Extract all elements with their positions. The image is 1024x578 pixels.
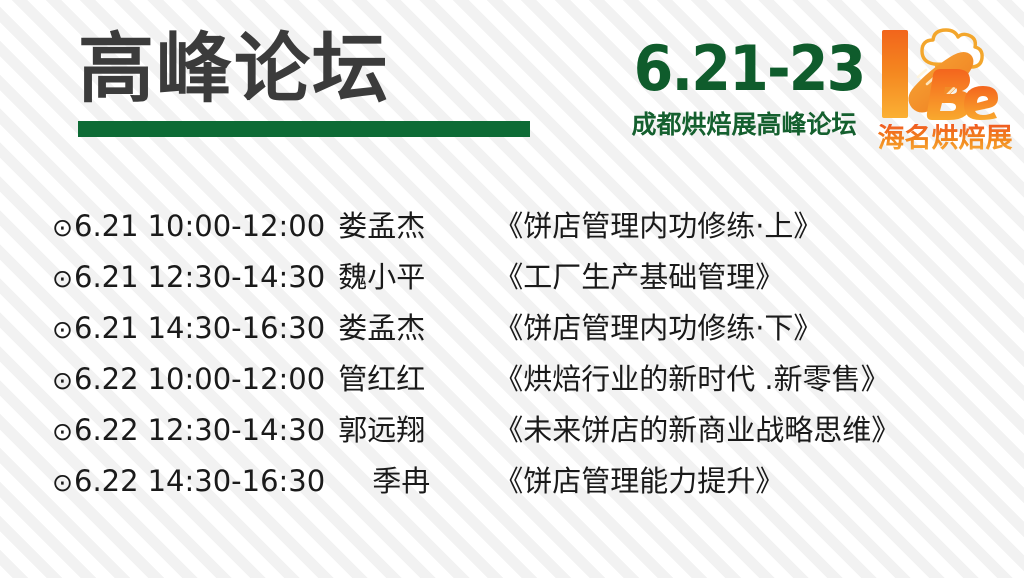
session-time: 10:00-12:00 <box>148 209 339 243</box>
session-schedule-list: ⊙ 6.21 10:00-12:00 娄孟杰 《饼店管理内功修练·上》 ⊙ 6.… <box>0 203 1024 509</box>
session-date: 6.22 <box>74 413 148 447</box>
session-date: 6.22 <box>74 362 148 396</box>
session-date: 6.22 <box>74 464 148 498</box>
session-time: 14:30-16:30 <box>148 464 339 498</box>
event-dates: 6.21-23 <box>634 36 855 102</box>
bullet-icon: ⊙ <box>52 366 74 395</box>
logo-mark-icon <box>872 24 1018 134</box>
session-row: ⊙ 6.21 10:00-12:00 娄孟杰 《饼店管理内功修练·上》 <box>0 203 1024 254</box>
session-speaker: 季冉 <box>338 458 464 500</box>
session-row: ⊙ 6.22 14:30-16:30 季冉 《饼店管理能力提升》 <box>0 458 1024 509</box>
session-time: 10:00-12:00 <box>148 362 339 396</box>
session-time: 14:30-16:30 <box>148 311 339 345</box>
page-title: 高峰论坛 <box>78 26 530 112</box>
forum-poster: 高峰论坛 6.21-23 成都烘焙展高峰论坛 <box>0 0 1024 578</box>
session-topic: 《烘焙行业的新时代 .新零售》 <box>464 356 889 398</box>
session-speaker: 娄孟杰 <box>338 203 464 245</box>
event-subtitle: 成都烘焙展高峰论坛 <box>624 110 864 139</box>
event-date-block: 6.21-23 成都烘焙展高峰论坛 <box>624 36 864 139</box>
session-topic: 《饼店管理能力提升》 <box>464 458 784 500</box>
session-speaker: 管红红 <box>338 356 464 398</box>
session-speaker: 郭远翔 <box>338 407 464 449</box>
session-date: 6.21 <box>74 209 148 243</box>
session-time: 12:30-14:30 <box>148 260 339 294</box>
bullet-icon: ⊙ <box>52 417 74 446</box>
be-monogram-icon <box>927 69 998 120</box>
bullet-icon: ⊙ <box>52 468 74 497</box>
orange-bar-icon <box>882 30 908 118</box>
bullet-icon: ⊙ <box>52 213 74 242</box>
session-topic: 《饼店管理内功修练·上》 <box>464 203 822 245</box>
session-row: ⊙ 6.22 12:30-14:30 郭远翔 《未来饼店的新商业战略思维》 <box>0 407 1024 458</box>
session-topic: 《工厂生产基础管理》 <box>464 254 784 296</box>
bullet-icon: ⊙ <box>52 315 74 344</box>
session-date: 6.21 <box>74 311 148 345</box>
session-time: 12:30-14:30 <box>148 413 339 447</box>
logo-wordmark: 海名烘焙展 <box>872 124 1018 154</box>
session-date: 6.21 <box>74 260 148 294</box>
session-topic: 《饼店管理内功修练·下》 <box>464 305 822 347</box>
session-speaker: 娄孟杰 <box>338 305 464 347</box>
session-row: ⊙ 6.22 10:00-12:00 管红红 《烘焙行业的新时代 .新零售》 <box>0 356 1024 407</box>
session-speaker: 魏小平 <box>338 254 464 296</box>
title-block: 高峰论坛 <box>78 26 530 137</box>
title-underline-rule <box>78 121 530 137</box>
poster-header: 高峰论坛 6.21-23 成都烘焙展高峰论坛 <box>0 0 1024 175</box>
session-topic: 《未来饼店的新商业战略思维》 <box>464 407 900 449</box>
brand-logo: 海名烘焙展 <box>872 24 1018 160</box>
session-row: ⊙ 6.21 14:30-16:30 娄孟杰 《饼店管理内功修练·下》 <box>0 305 1024 356</box>
session-row: ⊙ 6.21 12:30-14:30 魏小平 《工厂生产基础管理》 <box>0 254 1024 305</box>
bullet-icon: ⊙ <box>52 264 74 293</box>
